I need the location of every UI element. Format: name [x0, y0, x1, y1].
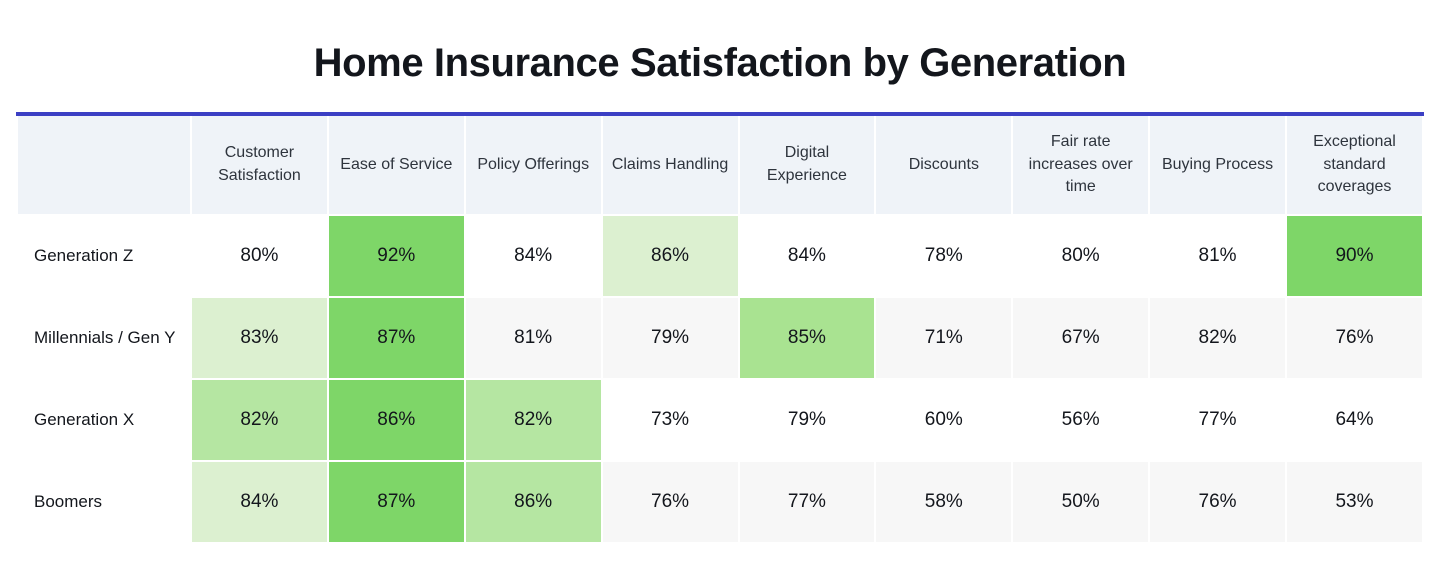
- data-cell: 76%: [1287, 298, 1422, 378]
- table-corner-cell: [18, 116, 190, 214]
- data-cell: 76%: [603, 462, 738, 542]
- data-cell: 84%: [740, 216, 875, 296]
- data-cell: 87%: [329, 462, 464, 542]
- infographic-page: Home Insurance Satisfaction by Generatio…: [0, 0, 1440, 585]
- data-cell: 77%: [740, 462, 875, 542]
- data-cell: 73%: [603, 380, 738, 460]
- row-label: Millennials / Gen Y: [18, 298, 190, 378]
- table-row: Generation Z80%92%84%86%84%78%80%81%90%: [18, 216, 1422, 296]
- column-header: Digital Experience: [740, 116, 875, 214]
- data-cell: 50%: [1013, 462, 1148, 542]
- data-cell: 64%: [1287, 380, 1422, 460]
- data-cell: 86%: [466, 462, 601, 542]
- data-cell: 80%: [1013, 216, 1148, 296]
- table-header: Customer SatisfactionEase of ServicePoli…: [18, 116, 1422, 214]
- table-row: Millennials / Gen Y83%87%81%79%85%71%67%…: [18, 298, 1422, 378]
- data-cell: 56%: [1013, 380, 1148, 460]
- column-header: Policy Offerings: [466, 116, 601, 214]
- data-cell: 92%: [329, 216, 464, 296]
- data-cell: 78%: [876, 216, 1011, 296]
- data-cell: 77%: [1150, 380, 1285, 460]
- data-cell: 67%: [1013, 298, 1148, 378]
- table-row: Boomers84%87%86%76%77%58%50%76%53%: [18, 462, 1422, 542]
- data-cell: 83%: [192, 298, 327, 378]
- data-cell: 82%: [1150, 298, 1285, 378]
- page-title: Home Insurance Satisfaction by Generatio…: [0, 0, 1440, 86]
- data-cell: 80%: [192, 216, 327, 296]
- column-header: Buying Process: [1150, 116, 1285, 214]
- row-label: Generation Z: [18, 216, 190, 296]
- header-row: Customer SatisfactionEase of ServicePoli…: [18, 116, 1422, 214]
- data-cell: 82%: [192, 380, 327, 460]
- column-header: Customer Satisfaction: [192, 116, 327, 214]
- data-cell: 58%: [876, 462, 1011, 542]
- data-cell: 81%: [466, 298, 601, 378]
- data-cell: 86%: [603, 216, 738, 296]
- row-label: Generation X: [18, 380, 190, 460]
- data-cell: 87%: [329, 298, 464, 378]
- satisfaction-matrix: Customer SatisfactionEase of ServicePoli…: [16, 114, 1424, 544]
- data-cell: 71%: [876, 298, 1011, 378]
- column-header: Ease of Service: [329, 116, 464, 214]
- data-cell: 86%: [329, 380, 464, 460]
- data-cell: 76%: [1150, 462, 1285, 542]
- data-cell: 84%: [466, 216, 601, 296]
- column-header: Exceptional standard coverages: [1287, 116, 1422, 214]
- column-header: Fair rate increases over time: [1013, 116, 1148, 214]
- data-cell: 90%: [1287, 216, 1422, 296]
- data-cell: 85%: [740, 298, 875, 378]
- data-cell: 82%: [466, 380, 601, 460]
- column-header: Discounts: [876, 116, 1011, 214]
- data-cell: 79%: [603, 298, 738, 378]
- table-body: Generation Z80%92%84%86%84%78%80%81%90%M…: [18, 216, 1422, 542]
- data-cell: 53%: [1287, 462, 1422, 542]
- data-cell: 84%: [192, 462, 327, 542]
- matrix-table-container: Customer SatisfactionEase of ServicePoli…: [16, 112, 1424, 544]
- data-cell: 81%: [1150, 216, 1285, 296]
- data-cell: 79%: [740, 380, 875, 460]
- row-label: Boomers: [18, 462, 190, 542]
- column-header: Claims Handling: [603, 116, 738, 214]
- data-cell: 60%: [876, 380, 1011, 460]
- table-row: Generation X82%86%82%73%79%60%56%77%64%: [18, 380, 1422, 460]
